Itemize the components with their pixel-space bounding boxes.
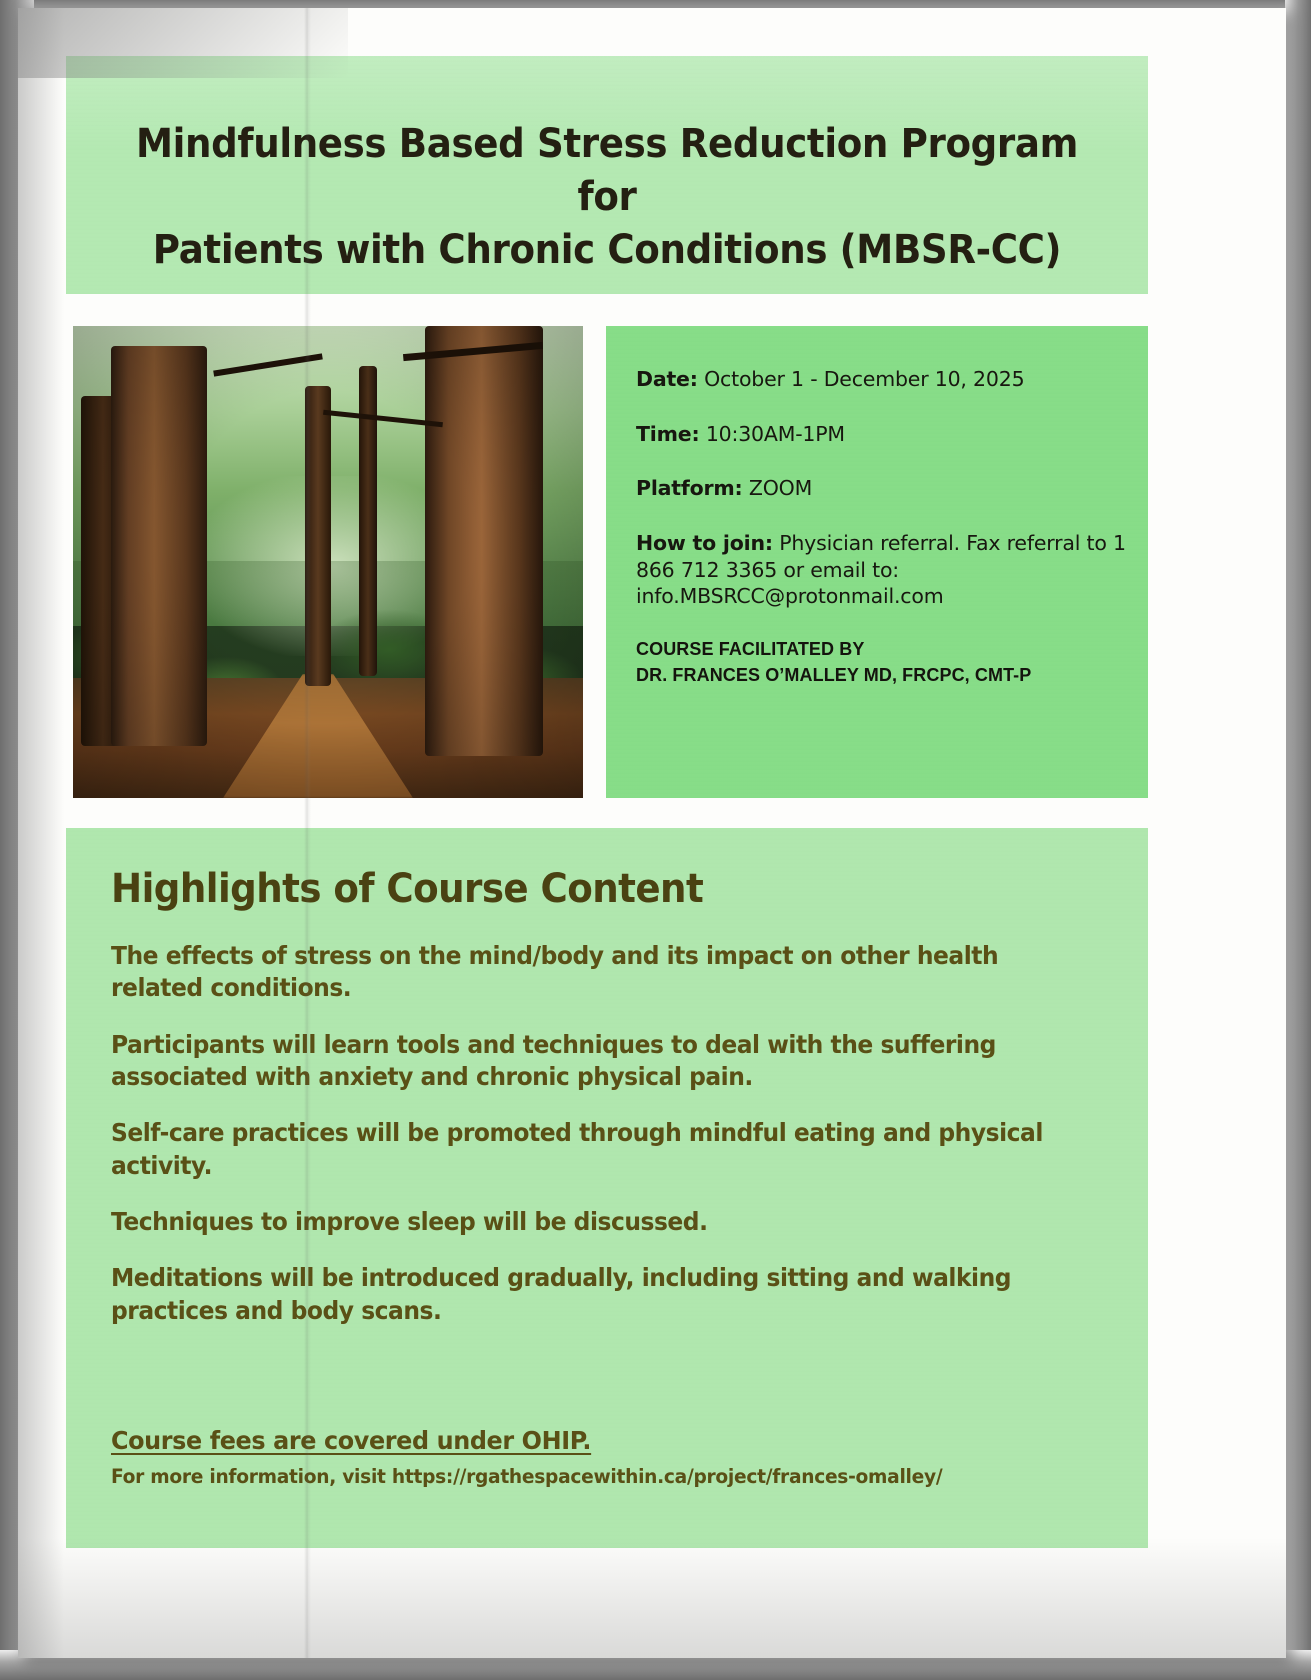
detail-date-value: October 1 - December 10, 2025: [704, 367, 1024, 391]
forest-path-photograph: [73, 326, 583, 798]
detail-how-to-join-label: How to join:: [636, 531, 773, 555]
content-paragraph: Self-care practices will be promoted thr…: [111, 1117, 1076, 1182]
course-content-footer: Course fees are covered under OHIP. For …: [111, 1426, 1121, 1488]
detail-date: Date: October 1 - December 10, 2025: [636, 366, 1134, 393]
course-content-paragraphs: The effects of stress on the mind/body a…: [111, 940, 1121, 1351]
course-details-list: Date: October 1 - December 10, 2025 Time…: [636, 366, 1134, 688]
content-paragraph: The effects of stress on the mind/body a…: [111, 940, 1076, 1005]
detail-platform: Platform: ZOOM: [636, 475, 1134, 502]
scanner-shadow-right: [1285, 0, 1311, 1680]
page-title: Mindfulness Based Stress Reduction Progr…: [104, 118, 1110, 278]
facilitator-label: COURSE FACILITATED BY: [636, 636, 1134, 662]
detail-time-label: Time:: [636, 422, 699, 446]
more-information-line[interactable]: For more information, visit https://rgat…: [111, 1465, 1076, 1488]
course-content-heading: Highlights of Course Content: [111, 866, 703, 912]
detail-date-label: Date:: [636, 367, 698, 391]
ohip-coverage-note: Course fees are covered under OHIP.: [111, 1426, 1076, 1455]
facilitator-name: DR. FRANCES O’MALLEY MD, FRCPC, CMT-P: [636, 662, 1134, 688]
photo-vignette: [73, 326, 583, 798]
content-paragraph: Meditations will be introduced gradually…: [111, 1262, 1076, 1327]
scan-shade-left: [18, 8, 64, 1658]
content-paragraph: Participants will learn tools and techni…: [111, 1029, 1076, 1094]
detail-time-value: 10:30AM-1PM: [706, 422, 845, 446]
detail-platform-value: ZOOM: [749, 476, 812, 500]
scan-shade-bottom: [18, 1538, 1286, 1658]
detail-platform-label: Platform:: [636, 476, 743, 500]
facilitator-block: COURSE FACILITATED BY DR. FRANCES O’MALL…: [636, 636, 1134, 688]
page-title-line-1: Mindfulness Based Stress Reduction Progr…: [104, 118, 1110, 224]
content-paragraph: Techniques to improve sleep will be disc…: [111, 1206, 1076, 1238]
course-content-panel: Highlights of Course Content The effects…: [66, 828, 1148, 1548]
detail-how-to-join: How to join: Physician referral. Fax ref…: [636, 530, 1134, 610]
scanned-page-container: Mindfulness Based Stress Reduction Progr…: [0, 0, 1311, 1680]
flyer-page: Mindfulness Based Stress Reduction Progr…: [18, 8, 1286, 1658]
course-details-panel: Date: October 1 - December 10, 2025 Time…: [606, 326, 1148, 798]
detail-time: Time: 10:30AM-1PM: [636, 421, 1134, 448]
title-panel: Mindfulness Based Stress Reduction Progr…: [66, 56, 1148, 294]
page-title-line-2: Patients with Chronic Conditions (MBSR-C…: [104, 224, 1110, 277]
